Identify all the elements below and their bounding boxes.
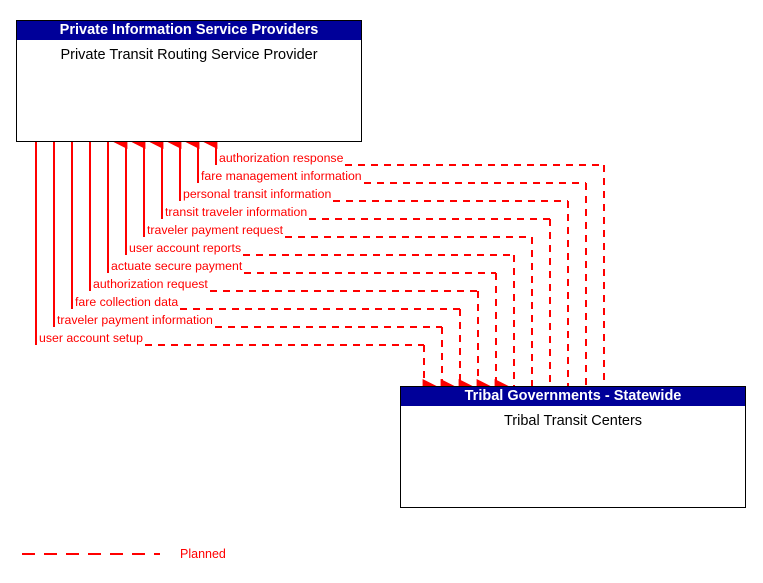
flow-label-traveler-payment-information: traveler payment information (57, 314, 213, 327)
flow-label-actuate-secure-payment: actuate secure payment (111, 260, 242, 273)
flow-label-fare-management-information: fare management information (201, 170, 362, 183)
flow-label-authorization-response: authorization response (219, 152, 343, 165)
box-header-private-information-service-providers: Private Information Service Providers (17, 21, 361, 40)
flow-label-user-account-reports: user account reports (129, 242, 241, 255)
legend-label-planned: Planned (180, 547, 226, 561)
box-private-transit-routing-service-provider[interactable]: Private Information Service Providers Pr… (16, 20, 362, 142)
flow-label-personal-transit-information: personal transit information (183, 188, 331, 201)
box-tribal-transit-centers[interactable]: Tribal Governments - Statewide Tribal Tr… (400, 386, 746, 508)
flow-label-traveler-payment-request: traveler payment request (147, 224, 283, 237)
flow-label-transit-traveler-information: transit traveler information (165, 206, 307, 219)
flow-label-user-account-setup: user account setup (39, 332, 143, 345)
box-name-tribal-transit-centers: Tribal Transit Centers (401, 406, 745, 430)
box-name-private-transit-routing-service-provider: Private Transit Routing Service Provider (17, 40, 361, 64)
box-header-tribal-governments-statewide: Tribal Governments - Statewide (401, 387, 745, 406)
flow-label-fare-collection-data: fare collection data (75, 296, 178, 309)
flow-label-authorization-request: authorization request (93, 278, 208, 291)
